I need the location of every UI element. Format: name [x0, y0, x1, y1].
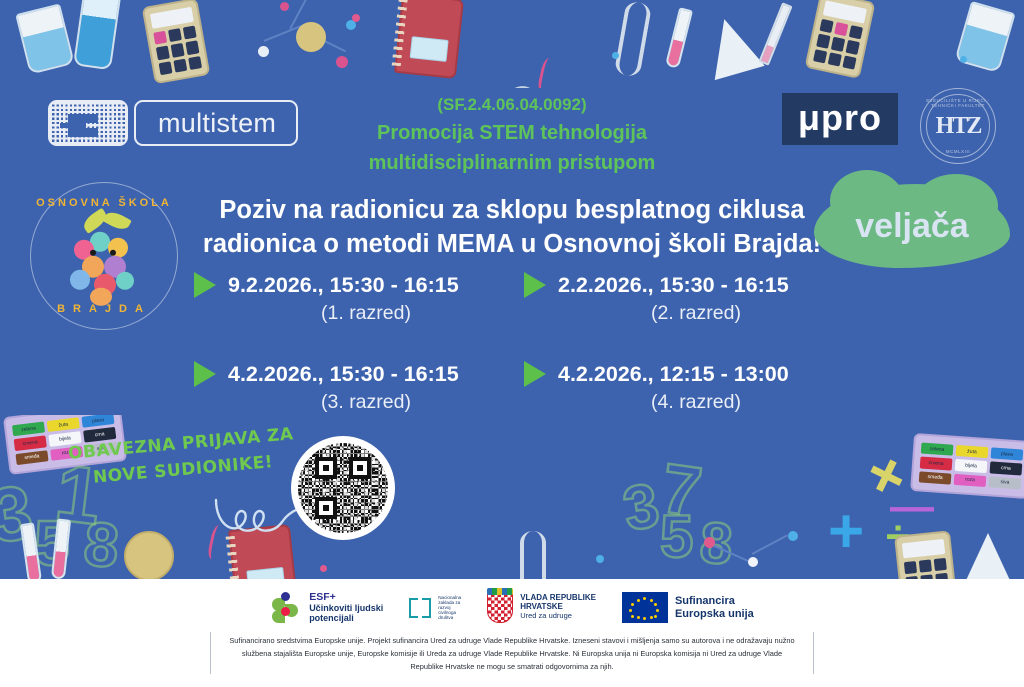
decor-number: 8 [81, 514, 121, 579]
eu-line1: Sufinancira [675, 595, 754, 607]
footer: ESF+ Učinkoviti ljudski potencijali Naci… [0, 579, 1024, 687]
dot-icon [960, 56, 967, 63]
decor-number: 8 [698, 514, 734, 574]
notebook-icon [228, 524, 298, 580]
qr-finder-icon [315, 457, 337, 479]
qr-finder-icon [349, 457, 371, 479]
decor-number: 5 [34, 511, 70, 575]
headline-line2: radionica o metodi MEMA u Osnovnoj školi… [120, 227, 904, 261]
notebook-icon [394, 0, 464, 79]
dot-icon [612, 52, 619, 59]
chip-grid-icon [48, 100, 128, 146]
logo-vlada-rh: VLADA REPUBLIKE HRVATSKE Ured za udruge [487, 593, 596, 623]
session-list: 9.2.2026., 15:30 - 16:15 (1. razred) 2.2… [186, 272, 846, 414]
logo-multistem: multistem [48, 100, 298, 146]
seal-arc-bottom: MCMLXIII [921, 149, 995, 154]
decor-band-top [0, 0, 1024, 88]
session-grade: (3. razred) [186, 391, 516, 414]
decor-number: 3 [0, 474, 37, 555]
lightbulb-icon [124, 531, 174, 580]
minus-symbol-icon: — [890, 485, 934, 529]
qr-finder-icon [315, 497, 337, 519]
qr-code-pattern [298, 443, 388, 533]
spark-icon [206, 525, 227, 559]
decor-number: 3 [619, 474, 664, 541]
session-grade: (2. razred) [516, 302, 846, 325]
plus-symbol-icon: + [828, 501, 864, 563]
test-tube-icon [51, 518, 71, 579]
arrow-right-icon [524, 272, 546, 298]
beaker-icon [15, 3, 75, 74]
dot-icon [596, 555, 604, 563]
divide-symbol-icon: ÷ [886, 515, 910, 559]
logo-eu: Sufinancira Europska unija [622, 592, 754, 623]
beaker-icon [73, 0, 121, 70]
month-badge-label: veljača [814, 184, 1010, 268]
session-datetime: 9.2.2026., 15:30 - 16:15 [228, 273, 459, 298]
session-datetime: 2.2.2026., 15:30 - 16:15 [558, 273, 789, 298]
arrow-right-icon [524, 361, 546, 387]
dot-icon [320, 565, 327, 572]
poster-root: zelenažutaplava crvenabijelacrna smeđaro… [0, 0, 1024, 687]
magnet-icon [484, 80, 546, 88]
headline-line1: Poziv na radionicu za sklopu besplatnog … [120, 193, 904, 227]
eu-caption: Sufinancira Europska unija [675, 595, 754, 620]
decor-number: 7 [657, 453, 705, 528]
month-badge: veljača [814, 184, 1010, 268]
spark-icon [536, 58, 557, 88]
croatian-coat-of-arms-icon [487, 593, 513, 623]
calculator-icon [805, 0, 876, 79]
flask-icon [962, 533, 1014, 580]
list-item: 4.2.2026., 15:30 - 16:15 (3. razred) [186, 361, 516, 414]
footer-logo-row: ESF+ Učinkoviti ljudski potencijali Naci… [0, 579, 1024, 627]
registration-callout: OBAVEZNA PRIJAVA ZA NOVE SUDIONIKE! [60, 422, 304, 494]
esf-sub1: Učinkoviti ljudski [309, 603, 383, 613]
molecule-icon [250, 6, 370, 76]
paint-palette-icon: zelenažutaplava crvenabijelacrna smeđaro… [910, 433, 1024, 499]
session-datetime: 4.2.2026., 12:15 - 13:00 [558, 362, 789, 387]
flask-icon [699, 12, 764, 80]
esf-flower-icon [270, 592, 302, 624]
logo-multistem-word: multistem [134, 100, 298, 146]
seal-arc-top: SVEUČILIŠTE U RIJECI · TEHNIČKI FAKULTET [921, 98, 995, 108]
list-item: 2.2.2026., 15:30 - 16:15 (2. razred) [516, 272, 846, 325]
beaker-icon [954, 1, 1015, 73]
eu-flag-icon [622, 592, 668, 623]
dna-icon [520, 531, 546, 580]
list-item: 4.2.2026., 12:15 - 13:00 (4. razred) [516, 361, 846, 414]
pencil-icon [758, 2, 792, 65]
dot-icon [352, 14, 360, 22]
plus-symbol-icon: + [856, 438, 918, 512]
logo-upro: μpro [782, 93, 898, 145]
session-grade: (1. razred) [186, 302, 516, 325]
funding-disclaimer: Sufinancirano sredstvima Europske unije.… [210, 632, 814, 674]
arrow-right-icon [194, 272, 216, 298]
test-tube-icon [665, 7, 693, 69]
decor-number: 5 [660, 507, 693, 567]
logo-esf: ESF+ Učinkoviti ljudski potencijali [270, 592, 383, 624]
calculator-icon [894, 530, 958, 580]
session-datetime: 4.2.2026., 15:30 - 16:15 [228, 362, 459, 387]
session-grade: (4. razred) [516, 391, 846, 414]
eu-line2: Europska unija [675, 608, 754, 620]
dna-icon [614, 0, 652, 77]
esf-caption: ESF+ Učinkoviti ljudski potencijali [309, 592, 383, 624]
molecule-icon [700, 523, 810, 579]
test-tube-icon [20, 522, 42, 580]
calculator-icon [142, 0, 211, 84]
nz-caption: Nacionalna zaklada za razvoj civilnoga d… [438, 595, 461, 621]
school-arc-bottom: BRAJDA [31, 303, 177, 315]
vlada-line3: Ured za udruge [520, 612, 596, 620]
esf-title: ESF+ [309, 592, 383, 604]
list-item: 9.2.2026., 15:30 - 16:15 (1. razred) [186, 272, 516, 325]
logo-nacionalna-zaklada: Nacionalna zaklada za razvoj civilnoga d… [409, 595, 461, 621]
brackets-icon [409, 595, 431, 621]
vlada-caption: VLADA REPUBLIKE HRVATSKE Ured za udruge [520, 594, 596, 620]
page-title: Poziv na radionicu za sklopu besplatnog … [120, 193, 904, 262]
qr-code[interactable] [291, 436, 395, 540]
nz-line5: društva [438, 615, 461, 620]
esf-sub2: potencijali [309, 613, 383, 623]
arrow-right-icon [194, 361, 216, 387]
logo-upro-word: μpro [798, 100, 882, 136]
logo-university-seal: SVEUČILIŠTE U RIJECI · TEHNIČKI FAKULTET… [920, 88, 996, 164]
